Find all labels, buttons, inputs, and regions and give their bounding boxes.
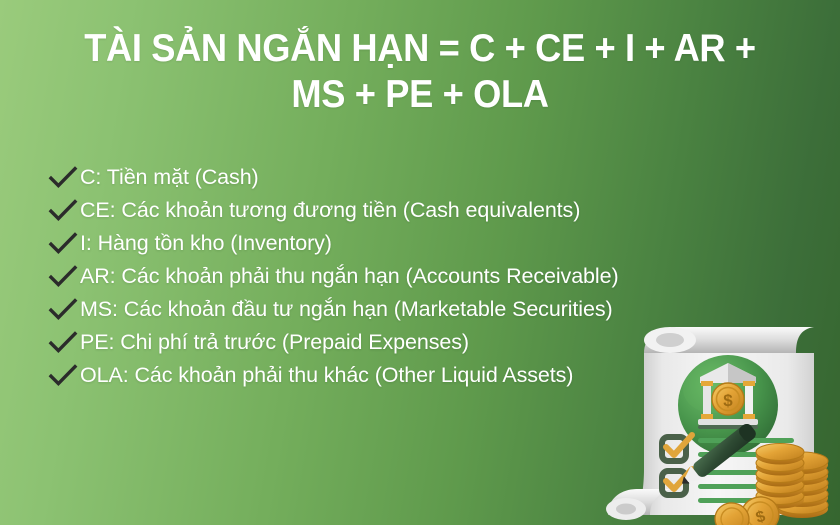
- financial-scroll-illustration: $: [600, 319, 840, 525]
- check-mark-icon: [48, 232, 78, 256]
- dollar-coin-icon: $: [712, 383, 744, 415]
- slide-canvas: TÀI SẢN NGẮN HẠN = C + CE + I + AR + MS …: [0, 0, 840, 525]
- list-item-label: CE: Các khoản tương đương tiền (Cash equ…: [80, 199, 580, 222]
- list-item: CE: Các khoản tương đương tiền (Cash equ…: [48, 194, 619, 227]
- list-item-label: MS: Các khoản đầu tư ngắn hạn (Marketabl…: [80, 298, 613, 321]
- title-line-2: MS + PE + OLA: [29, 72, 810, 118]
- title-line-1: TÀI SẢN NGẮN HẠN = C + CE + I + AR +: [29, 26, 810, 72]
- check-mark-icon: [48, 364, 78, 388]
- check-mark-icon: [48, 199, 78, 223]
- check-mark-icon: [48, 331, 78, 355]
- list-item-label: AR: Các khoản phải thu ngắn hạn (Account…: [80, 265, 619, 288]
- list-item-label: I: Hàng tồn kho (Inventory): [80, 232, 332, 255]
- list-item: PE: Chi phí trả trước (Prepaid Expenses): [48, 326, 619, 359]
- list-item: OLA: Các khoản phải thu khác (Other Liqu…: [48, 359, 619, 392]
- check-mark-icon: [48, 166, 78, 190]
- page-title: TÀI SẢN NGẮN HẠN = C + CE + I + AR + MS …: [29, 26, 810, 118]
- list-item: C: Tiền mặt (Cash): [48, 161, 619, 194]
- list-item-label: PE: Chi phí trả trước (Prepaid Expenses): [80, 331, 469, 354]
- list-item-label: OLA: Các khoản phải thu khác (Other Liqu…: [80, 364, 573, 387]
- check-mark-icon: [48, 298, 78, 322]
- list-item: MS: Các khoản đầu tư ngắn hạn (Marketabl…: [48, 293, 619, 326]
- list-item-label: C: Tiền mặt (Cash): [80, 166, 259, 189]
- svg-text:$: $: [723, 391, 733, 410]
- definition-list: C: Tiền mặt (Cash) CE: Các khoản tương đ…: [48, 161, 619, 392]
- list-item: AR: Các khoản phải thu ngắn hạn (Account…: [48, 260, 619, 293]
- check-mark-icon: [48, 265, 78, 289]
- list-item: I: Hàng tồn kho (Inventory): [48, 227, 619, 260]
